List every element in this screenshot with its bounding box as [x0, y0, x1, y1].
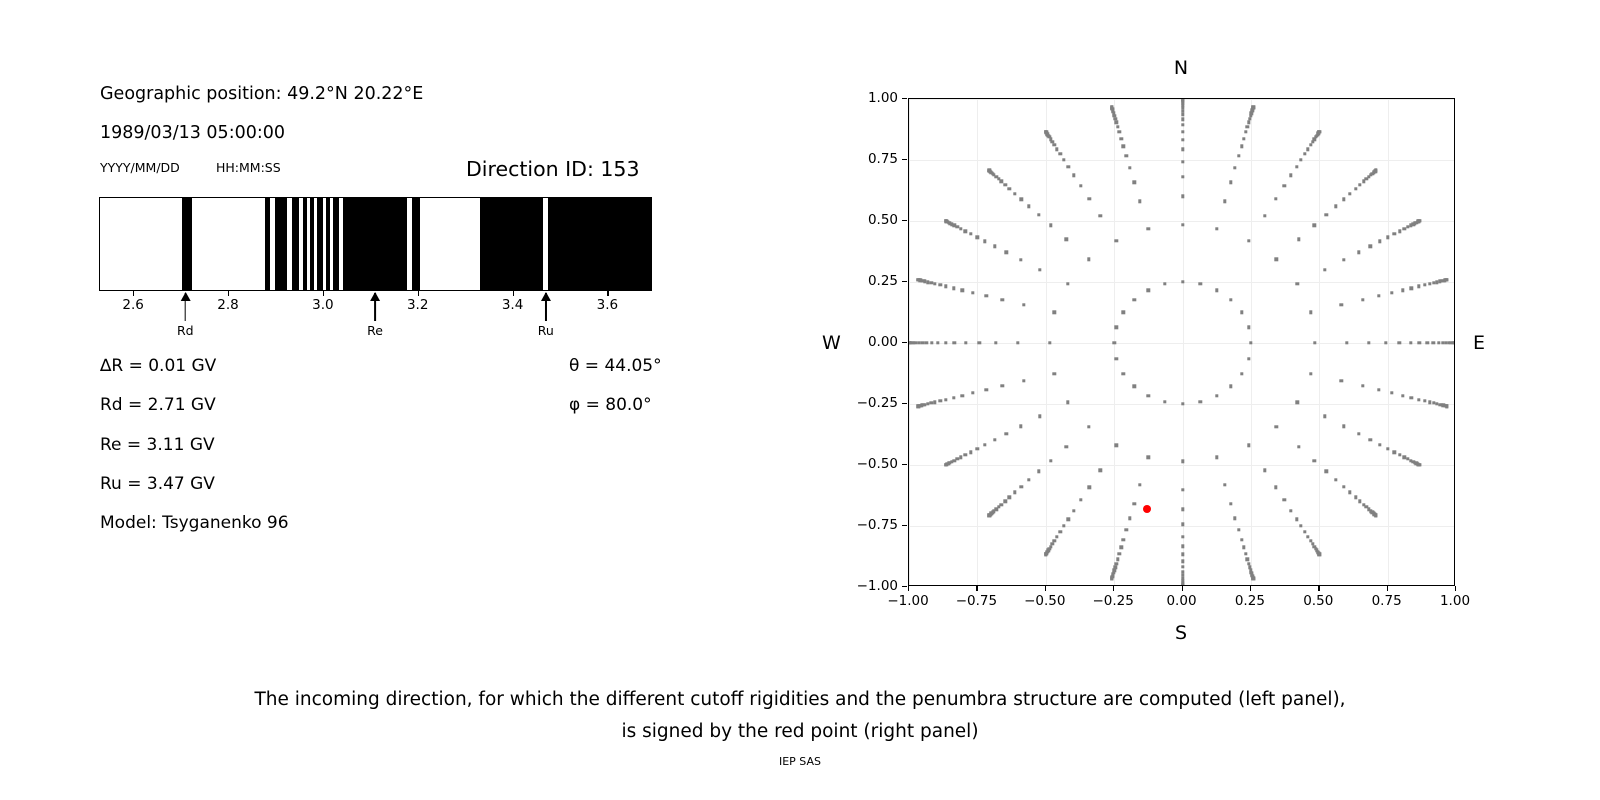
direction-point [1181, 118, 1184, 121]
direction-point [956, 225, 959, 228]
direction-point [1181, 113, 1184, 116]
direction-point [1274, 485, 1277, 488]
direction-point [1417, 398, 1420, 401]
direction-point [1181, 280, 1184, 283]
sky-x-tick [976, 586, 977, 591]
direction-point [1058, 152, 1061, 155]
penumbra-forbidden-band [333, 198, 339, 290]
direction-point [1122, 145, 1125, 148]
direction-point [930, 401, 933, 404]
direction-point [1309, 311, 1312, 314]
direction-point [1072, 509, 1075, 512]
direction-point [1297, 445, 1300, 448]
direction-point [1088, 485, 1091, 488]
direction-point [908, 341, 911, 344]
direction-point [1005, 432, 1008, 435]
direction-point [1348, 491, 1351, 494]
direction-point [1064, 445, 1067, 448]
direction-point [944, 341, 947, 344]
selected-direction-point[interactable] [1143, 505, 1151, 513]
direction-point [1252, 577, 1255, 580]
direction-point [964, 229, 967, 232]
direction-point [1386, 236, 1389, 239]
penumbra-forbidden-band [343, 198, 407, 290]
direction-point [1038, 415, 1041, 418]
direction-point [933, 400, 936, 403]
direction-point [1001, 298, 1004, 301]
direction-point [1342, 425, 1345, 428]
penumbra-x-tick-label: 3.4 [502, 297, 523, 313]
penumbra-forbidden-band [480, 198, 543, 290]
direction-point [1003, 183, 1006, 186]
direction-point [1334, 204, 1337, 207]
direction-point [1048, 341, 1051, 344]
sky-x-tick-label: −1.00 [887, 593, 928, 609]
direction-point [1053, 311, 1056, 314]
direction-point [1369, 245, 1372, 248]
direction-point [1377, 294, 1380, 297]
direction-point [1128, 516, 1131, 519]
direction-point [1342, 485, 1345, 488]
direction-point [1313, 224, 1316, 227]
direction-point [1282, 498, 1285, 501]
direction-point [1418, 341, 1421, 344]
direction-point [1437, 341, 1440, 344]
direction-point [1390, 391, 1393, 394]
penumbra-forbidden-band [317, 198, 323, 290]
sky-y-tick-label: 0.25 [868, 273, 898, 289]
penumbra-forbidden-band [182, 198, 193, 290]
left-panel: Geographic position: 49.2°N 20.22°E 1989… [0, 0, 760, 660]
direction-point [1223, 199, 1226, 202]
direction-point [1067, 165, 1070, 168]
direction-point [1138, 199, 1141, 202]
direction-point [1240, 311, 1243, 314]
direction-point [1020, 485, 1023, 488]
direction-point [1274, 197, 1277, 200]
direction-point [1318, 130, 1321, 133]
direction-point [939, 283, 942, 286]
direction-point [1119, 545, 1122, 548]
direction-point [1295, 518, 1298, 521]
direction-point [1079, 184, 1082, 187]
direction-point [1247, 357, 1250, 360]
sky-x-tick [1045, 586, 1046, 591]
direction-point [1358, 183, 1361, 186]
direction-point [1215, 394, 1218, 397]
direction-point [1072, 174, 1075, 177]
parameter-text: Rd = 2.71 GV [100, 395, 216, 415]
direction-point [1398, 453, 1401, 456]
direction-point [1299, 524, 1302, 527]
direction-point [961, 394, 964, 397]
direction-point [1252, 106, 1255, 109]
direction-point [1110, 106, 1113, 109]
gridline-horizontal [909, 465, 1454, 466]
direction-point [1119, 137, 1122, 140]
sky-y-tick-label: 0.00 [868, 334, 898, 350]
direction-point [1289, 509, 1292, 512]
penumbra-bar [99, 197, 652, 291]
direction-point [1309, 372, 1312, 375]
direction-point [1016, 341, 1019, 344]
up-arrow-icon [185, 293, 187, 321]
sky-x-tick [908, 586, 909, 591]
sky-x-tick [1318, 586, 1319, 591]
right-panel: N S W E −1.00−0.75−0.50−0.250.000.250.50… [800, 0, 1600, 660]
direction-point [1377, 388, 1380, 391]
direction-point [1357, 432, 1360, 435]
direction-point [1247, 121, 1250, 124]
direction-point [1299, 158, 1302, 161]
direction-point [1289, 174, 1292, 177]
direction-point [1122, 538, 1125, 541]
arrow-head-icon [370, 292, 380, 301]
direction-point [993, 438, 996, 441]
direction-point [1384, 341, 1387, 344]
direction-point [1247, 239, 1250, 242]
direction-point [1401, 394, 1404, 397]
direction-point [1163, 400, 1166, 403]
direction-point [1003, 500, 1006, 503]
direction-point [1114, 239, 1117, 242]
compass-label-east: E [1473, 332, 1485, 354]
direction-point [1297, 237, 1300, 240]
direction-point [1445, 278, 1448, 281]
direction-point [1132, 298, 1135, 301]
direction-point [1001, 384, 1004, 387]
penumbra-x-tick [513, 291, 514, 296]
direction-point [1013, 192, 1016, 195]
direction-point [1181, 565, 1184, 568]
penumbra-figure [99, 197, 652, 291]
direction-point [1445, 404, 1448, 407]
direction-point [1282, 184, 1285, 187]
direction-point [1079, 498, 1082, 501]
direction-point [1147, 394, 1150, 397]
geographic-position-text: Geographic position: 49.2°N 20.22°E [100, 84, 423, 104]
penumbra-x-tick-label: 3.2 [407, 297, 428, 313]
direction-point [1357, 251, 1360, 254]
direction-point [1309, 143, 1312, 146]
direction-point [1067, 518, 1070, 521]
direction-point [1398, 341, 1401, 344]
direction-point [1087, 258, 1090, 261]
direction-point [969, 450, 972, 453]
direction-point [1116, 557, 1119, 560]
direction-point [1181, 123, 1184, 126]
direction-point [1244, 552, 1247, 555]
gridline-horizontal [909, 526, 1454, 527]
direction-point [1237, 154, 1240, 157]
direction-id-text: Direction ID: 153 [466, 157, 640, 181]
direction-point [1240, 372, 1243, 375]
direction-point [984, 388, 987, 391]
penumbra-x-tick [418, 291, 419, 296]
sky-y-tick-label: −0.75 [857, 517, 898, 533]
direction-point [1066, 282, 1069, 285]
direction-point [994, 341, 997, 344]
direction-point [1401, 289, 1404, 292]
direction-point [1008, 496, 1011, 499]
direction-point [1114, 444, 1117, 447]
direction-point [1233, 166, 1236, 169]
direction-point [1049, 459, 1052, 462]
direction-point [1112, 341, 1115, 344]
direction-point [1323, 268, 1326, 271]
direction-point [1181, 175, 1184, 178]
direction-point [939, 399, 942, 402]
direction-point [1044, 553, 1047, 556]
direction-point [1233, 516, 1236, 519]
direction-point [1223, 483, 1226, 486]
direction-point [1044, 130, 1047, 133]
direction-point [1027, 478, 1030, 481]
direction-point [1263, 214, 1266, 217]
sky-y-tick [902, 220, 907, 221]
direction-point [1053, 143, 1056, 146]
sky-x-tick-label: 0.75 [1372, 593, 1402, 609]
direction-point [1390, 291, 1393, 294]
direction-point [1181, 194, 1184, 197]
direction-point [1147, 288, 1150, 291]
direction-point [1005, 251, 1008, 254]
direction-point [1215, 288, 1218, 291]
direction-point [933, 282, 936, 285]
direction-point [1318, 553, 1321, 556]
sky-x-tick-label: 0.00 [1166, 593, 1196, 609]
direction-point [993, 245, 996, 248]
parameter-text: φ = 80.0° [569, 395, 652, 415]
direction-point [1454, 341, 1455, 344]
direction-point [971, 291, 974, 294]
direction-point [1354, 496, 1357, 499]
direction-point [1053, 372, 1056, 375]
direction-point [1393, 232, 1396, 235]
gridline-vertical [1046, 99, 1047, 585]
sky-y-tick-label: −1.00 [857, 578, 898, 594]
direction-point [1037, 213, 1040, 216]
direction-point [1409, 341, 1412, 344]
direction-point [1013, 491, 1016, 494]
direction-point [1275, 425, 1278, 428]
sky-x-tick [1182, 586, 1183, 591]
penumbra-marker-label: Re [367, 323, 383, 338]
direction-point [944, 219, 947, 222]
direction-point [1181, 223, 1184, 226]
sky-y-tick-label: 0.75 [868, 151, 898, 167]
penumbra-forbidden-band [326, 198, 330, 290]
penumbra-marker-re: Re [367, 293, 383, 338]
direction-point [1110, 577, 1113, 580]
direction-point [1198, 400, 1201, 403]
sky-x-tick-label: −0.75 [956, 593, 997, 609]
penumbra-marker-label: Ru [538, 323, 554, 338]
direction-point [1133, 502, 1136, 505]
direction-point [1019, 425, 1022, 428]
direction-point [1303, 152, 1306, 155]
penumbra-x-tick [323, 291, 324, 296]
gridline-vertical [1319, 99, 1320, 585]
direction-point [917, 404, 920, 407]
direction-point [1064, 237, 1067, 240]
direction-point [1181, 160, 1184, 163]
direction-point [1087, 425, 1090, 428]
direction-point [1146, 456, 1149, 459]
direction-point [1369, 438, 1372, 441]
sky-y-tick-label: 1.00 [868, 90, 898, 106]
up-arrow-icon [545, 293, 547, 321]
direction-point [959, 456, 962, 459]
direction-point [1367, 341, 1370, 344]
direction-point [1115, 357, 1118, 360]
compass-label-north: N [1174, 57, 1188, 79]
direction-point [1374, 169, 1377, 172]
direction-point [944, 463, 947, 466]
penumbra-forbidden-band [310, 198, 314, 290]
direction-point [1295, 165, 1298, 168]
date-format-label: YYYY/MM/DD [100, 160, 180, 175]
direction-point [984, 294, 987, 297]
direction-point [987, 169, 990, 172]
penumbra-x-tick [133, 291, 134, 296]
direction-point [1181, 148, 1184, 151]
direction-point [1454, 341, 1455, 344]
arrow-head-icon [180, 292, 190, 301]
sky-x-tick-label: −0.25 [1092, 593, 1133, 609]
direction-point [1275, 258, 1278, 261]
caption-line-2: is signed by the red point (right panel) [0, 716, 1600, 748]
parameter-text: Re = 3.11 GV [100, 435, 215, 455]
direction-point [1361, 384, 1364, 387]
sky-x-tick-label: −0.50 [1024, 593, 1065, 609]
footer-credit: IEP SAS [0, 755, 1600, 768]
arrow-head-icon [541, 292, 551, 301]
direction-point [1088, 197, 1091, 200]
direction-point [1181, 460, 1184, 463]
direction-point [925, 341, 928, 344]
compass-label-south: S [1175, 622, 1187, 644]
direction-point [961, 289, 964, 292]
direction-point [1055, 535, 1058, 538]
direction-point [1049, 224, 1052, 227]
direction-point [1132, 384, 1135, 387]
direction-point [1247, 326, 1250, 329]
direction-point [1115, 326, 1118, 329]
direction-point [1325, 213, 1328, 216]
direction-point [1306, 535, 1309, 538]
penumbra-marker-ru: Ru [538, 293, 554, 338]
direction-point [1027, 204, 1030, 207]
direction-point [1038, 268, 1041, 271]
direction-point [1113, 117, 1116, 120]
sky-x-tick [1387, 586, 1388, 591]
penumbra-x-tick [607, 291, 608, 296]
direction-point [1181, 138, 1184, 141]
direction-point [1348, 192, 1351, 195]
sky-x-tick [1455, 586, 1456, 591]
direction-point [1248, 117, 1251, 120]
direction-point [1122, 372, 1125, 375]
direction-point [1037, 470, 1040, 473]
direction-point [1240, 538, 1243, 541]
direction-point [1125, 528, 1128, 531]
direction-point [1237, 528, 1240, 531]
penumbra-forbidden-band [412, 198, 420, 290]
datetime-text: 1989/03/13 05:00:00 [100, 123, 285, 143]
parameter-text: ∆R = 0.01 GV [100, 356, 216, 376]
time-format-label: HH:MM:SS [216, 160, 281, 175]
direction-point [987, 514, 990, 517]
direction-point [1198, 282, 1201, 285]
direction-point [1378, 240, 1381, 243]
direction-point [1246, 557, 1249, 560]
direction-point [1133, 181, 1136, 184]
direction-point [1263, 468, 1266, 471]
figure-caption: The incoming direction, for which the di… [0, 684, 1600, 748]
sky-y-tick-label: −0.50 [857, 456, 898, 472]
sky-map-plot-area [908, 98, 1455, 586]
direction-point [969, 232, 972, 235]
direction-point [1122, 311, 1125, 314]
direction-point [971, 391, 974, 394]
direction-point [976, 447, 979, 450]
direction-point [1340, 379, 1343, 382]
direction-point [1058, 530, 1061, 533]
direction-point [964, 341, 967, 344]
direction-point [1240, 145, 1243, 148]
sky-y-tick [902, 159, 907, 160]
direction-point [1426, 341, 1429, 344]
penumbra-x-axis: 2.62.83.03.23.43.6RdReRu [99, 291, 652, 351]
direction-point [1417, 285, 1420, 288]
penumbra-x-tick-label: 3.6 [597, 297, 618, 313]
direction-point [1432, 341, 1435, 344]
direction-point [1342, 197, 1345, 200]
sky-y-tick [902, 525, 907, 526]
direction-point [1334, 478, 1337, 481]
direction-point [1022, 379, 1025, 382]
direction-point [983, 443, 986, 446]
direction-point [1242, 545, 1245, 548]
direction-point [917, 341, 920, 344]
gridline-horizontal [909, 221, 1454, 222]
up-arrow-icon [374, 293, 376, 321]
penumbra-x-tick-label: 2.8 [217, 297, 238, 313]
direction-point [1146, 227, 1149, 230]
direction-point [930, 281, 933, 284]
direction-point [944, 398, 947, 401]
direction-point [1163, 282, 1166, 285]
sky-y-tick [902, 464, 907, 465]
direction-point [1418, 463, 1421, 466]
direction-point [959, 227, 962, 230]
direction-point [1062, 158, 1065, 161]
sky-y-tick [902, 403, 907, 404]
direction-point [1181, 560, 1184, 563]
penumbra-forbidden-band [265, 198, 270, 290]
direction-point [1215, 227, 1218, 230]
sky-x-tick-label: 0.25 [1235, 593, 1265, 609]
direction-point [1116, 125, 1119, 128]
direction-point [1423, 399, 1426, 402]
direction-point [1181, 488, 1184, 491]
direction-point [1215, 456, 1218, 459]
sky-x-tick-label: 0.50 [1303, 593, 1333, 609]
parameter-text: θ = 44.05° [569, 356, 662, 376]
direction-point [1181, 508, 1184, 511]
direction-point [1229, 181, 1232, 184]
